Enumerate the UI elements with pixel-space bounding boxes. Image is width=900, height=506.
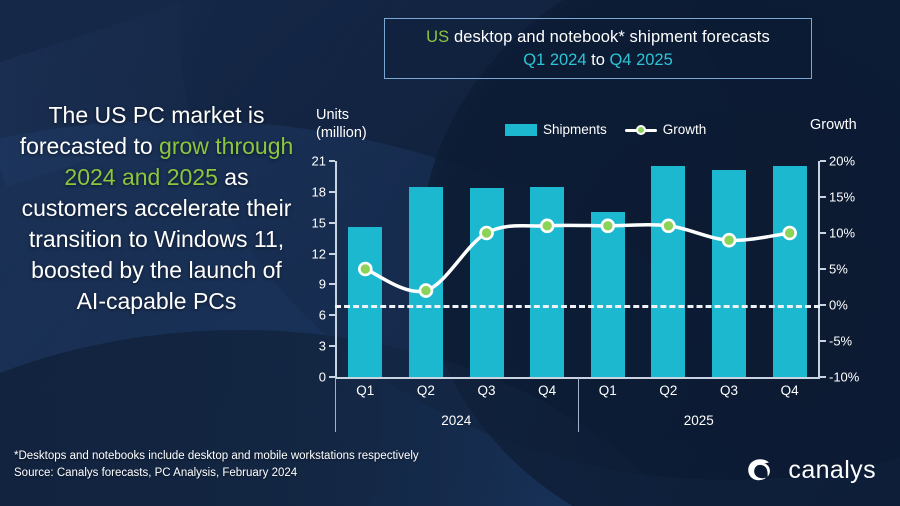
- growth-marker-Q1-2025: [602, 220, 614, 232]
- y-tick-mark: [329, 283, 335, 285]
- y2-tick-mark: [820, 304, 826, 306]
- chart-title-period-sep: to: [587, 51, 610, 69]
- headline-text: The US PC market is forecasted to grow t…: [14, 100, 299, 317]
- chart-legend: Shipments Growth: [505, 122, 706, 137]
- canalys-swirl-icon: [745, 455, 779, 485]
- chart-title-line-2: Q1 2024 to Q4 2025: [523, 51, 673, 70]
- x-group-divider-start: [335, 378, 336, 432]
- chart-container: Units (million) Growth Shipments Growth …: [300, 100, 888, 440]
- canalys-logo-text: canalys: [788, 456, 876, 485]
- chart-title-rest: desktop and notebook* shipment forecasts: [449, 28, 770, 46]
- zero-reference-line: [335, 305, 820, 308]
- legend-swatch-line-icon: [625, 124, 657, 136]
- legend-item-growth[interactable]: Growth: [625, 122, 707, 137]
- x-group-label-2025: 2025: [684, 413, 714, 428]
- y-tick-mark: [329, 345, 335, 347]
- y-axis-title-line-2: (million): [316, 124, 367, 142]
- y2-tick-mark: [820, 268, 826, 270]
- growth-line-series: [335, 161, 820, 377]
- chart-title-period-start: Q1 2024: [523, 51, 586, 69]
- x-axis-group-labels: 20242025: [335, 383, 820, 435]
- slide-canvas: US desktop and notebook* shipment foreca…: [0, 0, 900, 506]
- y-axis-title: Units (million): [316, 106, 367, 142]
- x-group-label-2024: 2024: [441, 413, 471, 428]
- chart-title-period-end: Q4 2025: [609, 51, 672, 69]
- growth-marker-Q1-2024: [359, 263, 371, 275]
- y2-tick-mark: [820, 376, 826, 378]
- growth-marker-Q2-2024: [420, 285, 432, 297]
- y-axis-title-line-1: Units: [316, 106, 367, 124]
- x-group-divider: [578, 378, 579, 432]
- legend-label-shipments: Shipments: [543, 122, 607, 137]
- y-tick-mark: [329, 222, 335, 224]
- y-tick-mark: [329, 314, 335, 316]
- y-tick-mark: [329, 160, 335, 162]
- y-tick-mark: [329, 253, 335, 255]
- growth-marker-Q2-2025: [662, 220, 674, 232]
- y2-axis-title: Growth: [810, 117, 857, 133]
- growth-marker-Q4-2025: [784, 227, 796, 239]
- growth-marker-Q4-2024: [541, 220, 553, 232]
- y-tick-mark: [329, 191, 335, 193]
- legend-swatch-bar-icon: [505, 124, 537, 136]
- growth-marker-Q3-2025: [723, 234, 735, 246]
- growth-marker-Q3-2024: [481, 227, 493, 239]
- legend-item-shipments[interactable]: Shipments: [505, 122, 607, 137]
- y2-tick-mark: [820, 340, 826, 342]
- legend-label-growth: Growth: [663, 122, 707, 137]
- plot-area: 036912151821 -10%-5%0%5%10%15%20%: [335, 161, 820, 377]
- chart-title-highlight: US: [426, 28, 449, 46]
- chart-title-box: US desktop and notebook* shipment foreca…: [384, 18, 812, 79]
- chart-title-line-1: US desktop and notebook* shipment foreca…: [426, 28, 770, 47]
- footnote-source: Source: Canalys forecasts, PC Analysis, …: [14, 465, 419, 482]
- footnote-block: *Desktops and notebooks include desktop …: [14, 448, 419, 482]
- footnote-note: *Desktops and notebooks include desktop …: [14, 448, 419, 465]
- canalys-logo: canalys: [745, 455, 876, 485]
- y2-tick-mark: [820, 196, 826, 198]
- y2-tick-mark: [820, 160, 826, 162]
- y2-tick-mark: [820, 232, 826, 234]
